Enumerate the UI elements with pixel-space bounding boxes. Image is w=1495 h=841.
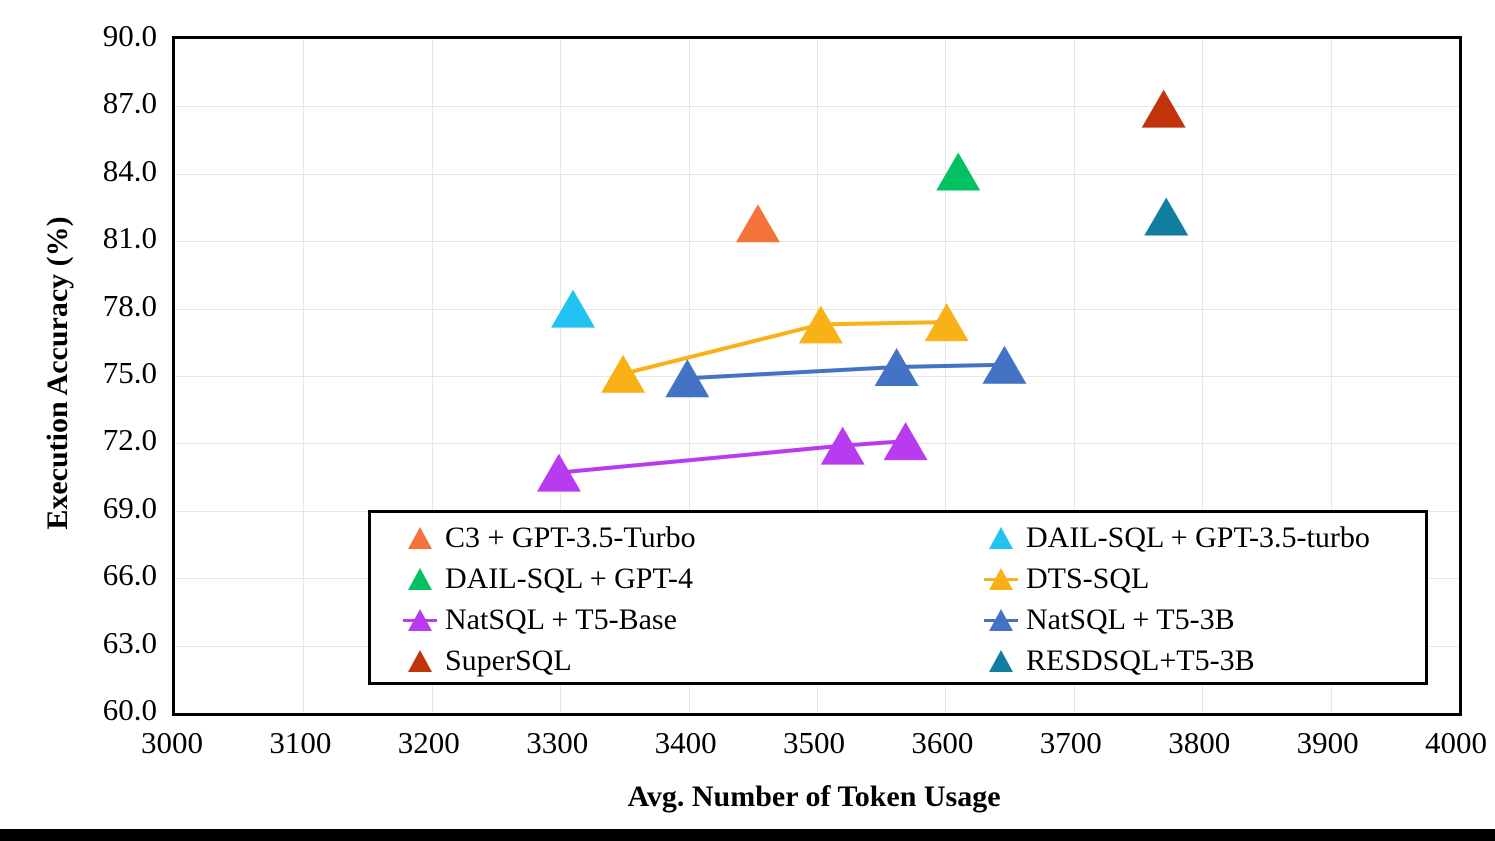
legend-marker-triangle-icon — [407, 649, 433, 673]
x-tick-label: 3500 — [744, 725, 884, 761]
series-dail-sql-gpt-3-5-turbo — [551, 290, 595, 328]
series-line — [687, 365, 1004, 378]
x-tick-label: 3700 — [1001, 725, 1141, 761]
y-tick-label: 75.0 — [17, 355, 157, 391]
legend-item[interactable]: DAIL-SQL + GPT-4 — [371, 558, 898, 599]
legend-item-label: SuperSQL — [445, 646, 572, 676]
legend-item-label: RESDSQL+T5-3B — [1026, 646, 1255, 676]
series-c3-gpt-3-5-turbo — [736, 204, 780, 242]
legend-item[interactable]: RESDSQL+T5-3B — [898, 640, 1425, 681]
legend-marker-triangle-icon — [988, 567, 1014, 591]
x-tick-label: 3600 — [872, 725, 1012, 761]
y-tick-label: 87.0 — [17, 85, 157, 121]
data-point-marker — [1144, 197, 1188, 235]
series-natsql-t5-base — [537, 422, 928, 491]
triangle-icon — [989, 527, 1013, 549]
legend-marker-triangle-icon — [988, 526, 1014, 550]
legend-item-label: NatSQL + T5-3B — [1026, 605, 1235, 635]
y-tick-label: 84.0 — [17, 153, 157, 189]
legend-marker-triangle-icon — [407, 526, 433, 550]
legend-marker-triangle-icon — [988, 608, 1014, 632]
y-tick-label: 66.0 — [17, 557, 157, 593]
chart-legend: C3 + GPT-3.5-TurboDAIL-SQL + GPT-3.5-tur… — [368, 510, 1428, 685]
triangle-icon — [989, 650, 1013, 672]
x-tick-label: 3800 — [1129, 725, 1269, 761]
series-resdsql-t5-3b — [1144, 197, 1188, 235]
legend-item[interactable]: DTS-SQL — [898, 558, 1425, 599]
data-point-marker — [601, 355, 645, 393]
legend-item-label: DAIL-SQL + GPT-3.5-turbo — [1026, 523, 1370, 553]
bottom-black-bar — [0, 829, 1495, 841]
y-tick-label: 81.0 — [17, 220, 157, 256]
legend-item-label: DTS-SQL — [1026, 564, 1149, 594]
triangle-icon — [408, 527, 432, 549]
legend-item-label: DAIL-SQL + GPT-4 — [445, 564, 693, 594]
data-point-marker — [936, 153, 980, 191]
legend-marker-triangle-icon — [988, 649, 1014, 673]
x-tick-label: 3900 — [1258, 725, 1398, 761]
data-point-marker — [1142, 90, 1186, 128]
y-tick-label: 78.0 — [17, 288, 157, 324]
series-natsql-t5-3b — [665, 346, 1026, 397]
series-dail-sql-gpt-4 — [936, 153, 980, 191]
legend-item-label: NatSQL + T5-Base — [445, 605, 677, 635]
legend-item[interactable]: SuperSQL — [371, 640, 898, 681]
legend-item-label: C3 + GPT-3.5-Turbo — [445, 523, 696, 553]
legend-item[interactable]: NatSQL + T5-3B — [898, 599, 1425, 640]
x-axis-title: Avg. Number of Token Usage — [172, 780, 1456, 814]
x-tick-label: 3000 — [102, 725, 242, 761]
triangle-icon — [408, 609, 432, 631]
x-tick-label: 4000 — [1386, 725, 1495, 761]
series-supersql — [1142, 90, 1186, 128]
triangle-icon — [989, 568, 1013, 590]
scatter-chart: Execution Accuracy (%) 60.063.066.069.07… — [0, 0, 1495, 841]
y-tick-label: 60.0 — [17, 692, 157, 728]
y-tick-label: 63.0 — [17, 625, 157, 661]
y-tick-label: 90.0 — [17, 18, 157, 54]
x-tick-label: 3300 — [487, 725, 627, 761]
y-tick-label: 69.0 — [17, 490, 157, 526]
triangle-icon — [408, 568, 432, 590]
triangle-icon — [408, 650, 432, 672]
legend-item[interactable]: C3 + GPT-3.5-Turbo — [371, 517, 898, 558]
y-tick-label: 72.0 — [17, 422, 157, 458]
x-tick-label: 3400 — [616, 725, 756, 761]
legend-marker-triangle-icon — [407, 567, 433, 591]
data-point-marker — [551, 290, 595, 328]
legend-item[interactable]: DAIL-SQL + GPT-3.5-turbo — [898, 517, 1425, 558]
x-tick-label: 3200 — [359, 725, 499, 761]
triangle-icon — [989, 609, 1013, 631]
data-point-marker — [736, 204, 780, 242]
legend-item[interactable]: NatSQL + T5-Base — [371, 599, 898, 640]
legend-marker-triangle-icon — [407, 608, 433, 632]
x-tick-label: 3100 — [230, 725, 370, 761]
